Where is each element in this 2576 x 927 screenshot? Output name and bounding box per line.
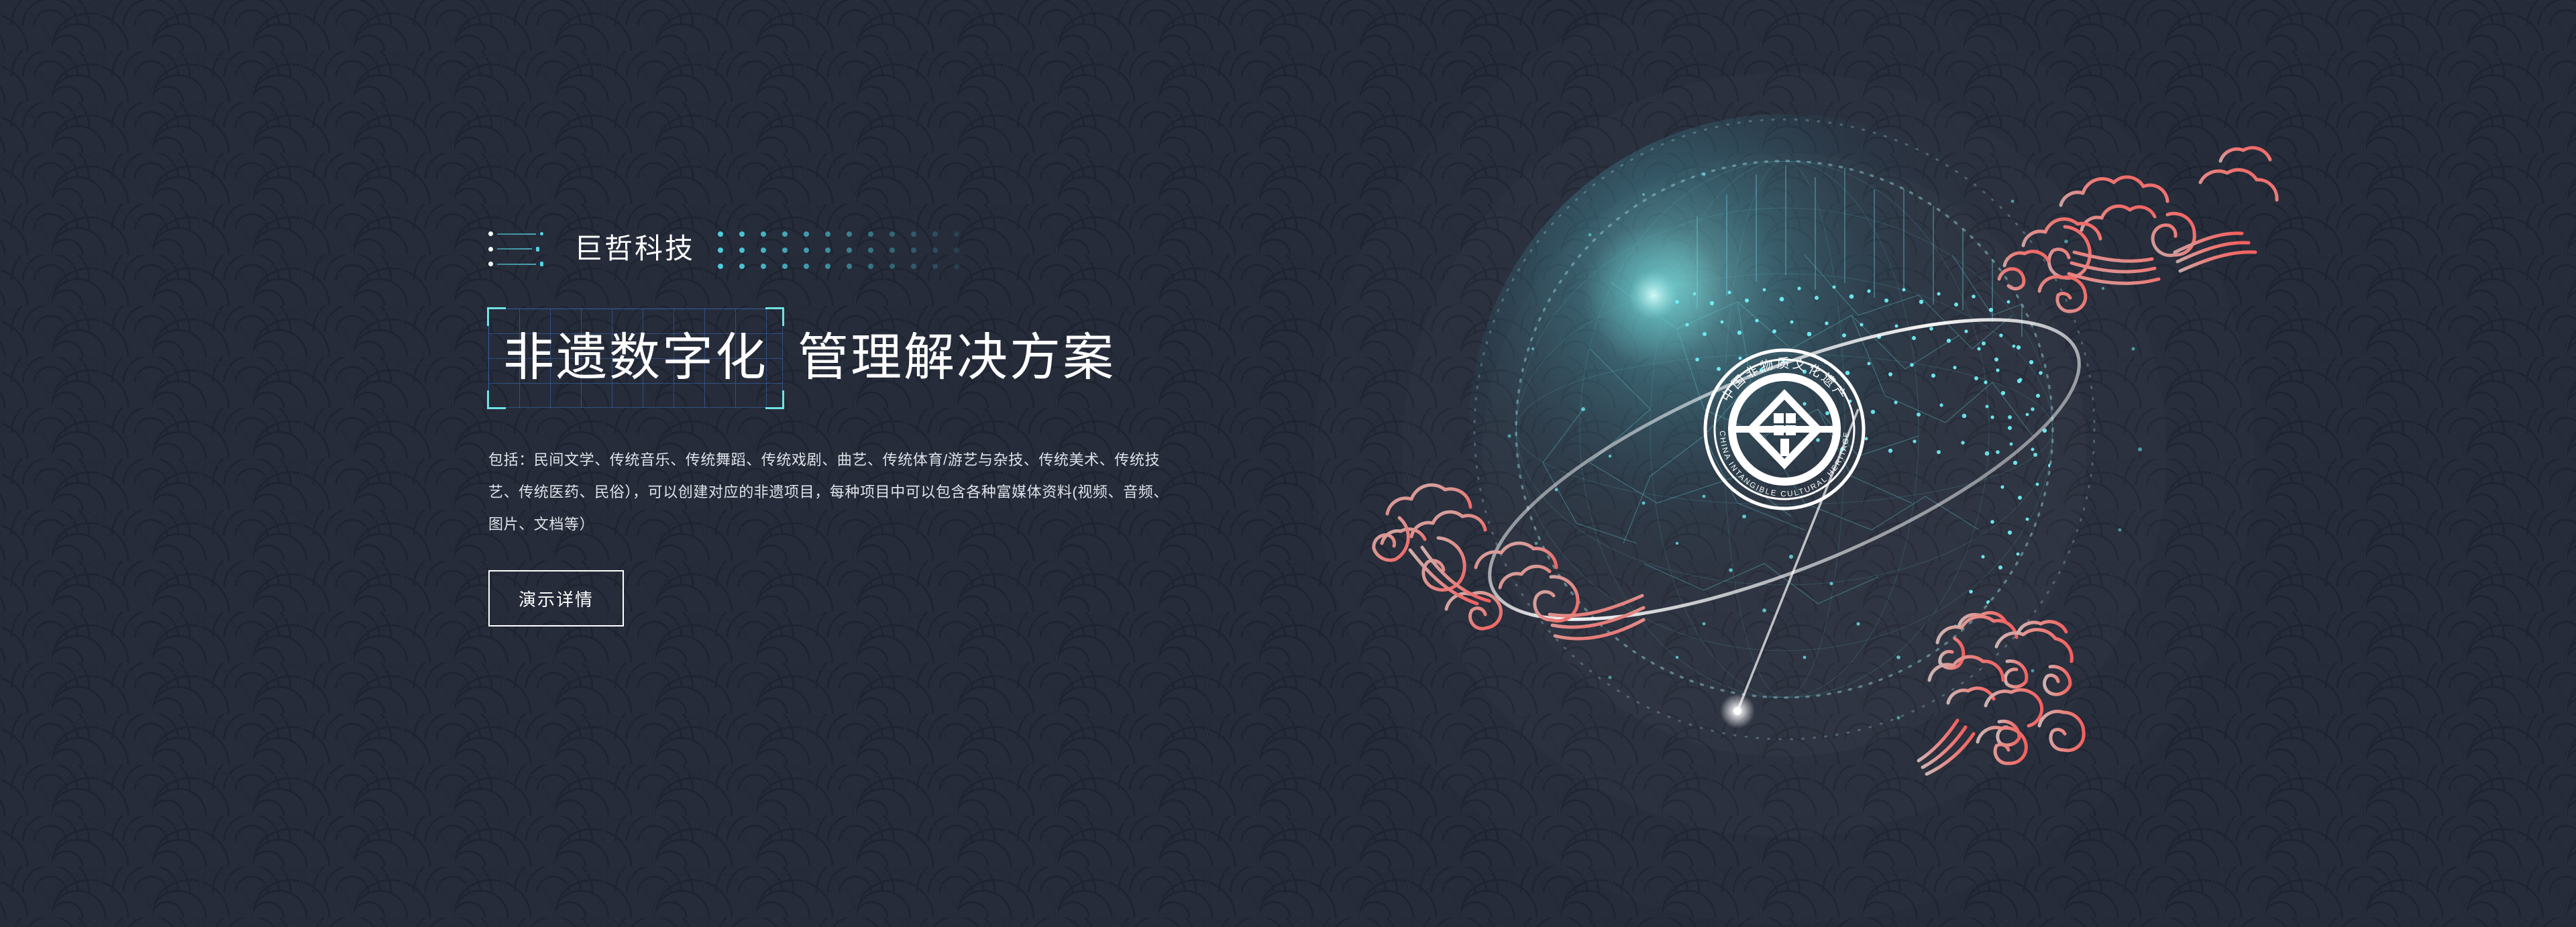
hero-description: 包括：民间文学、传统音乐、传统舞蹈、传统戏剧、曲艺、传统体育/游艺与杂技、传统美… bbox=[488, 444, 1176, 541]
hero-content: 巨哲科技 bbox=[488, 228, 1240, 626]
demo-details-button[interactable]: 演示详情 bbox=[488, 570, 624, 626]
page-title: 非遗数字化 管理解决方案 bbox=[488, 309, 1240, 408]
corner-mark-bottom-right bbox=[765, 390, 784, 409]
corner-mark-top-left bbox=[487, 307, 506, 326]
seigaiha-background-pattern bbox=[0, 0, 2576, 927]
brand-row: 巨哲科技 bbox=[488, 228, 1240, 270]
headline-highlight-text: 非遗数字化 bbox=[503, 333, 768, 384]
hero-banner: 中国非物质文化遗产 CHINA INTANGIBLE CULTURAL HERI… bbox=[0, 0, 2576, 927]
brand-name: 巨哲科技 bbox=[574, 235, 695, 263]
three-line-dash-icon bbox=[488, 231, 554, 266]
corner-mark-bottom-left bbox=[487, 390, 506, 409]
headline-boxed-highlight: 非遗数字化 bbox=[488, 309, 783, 408]
digital-globe-graphic: 中国非物质文化遗产 CHINA INTANGIBLE CULTURAL HERI… bbox=[1389, 34, 2180, 825]
corner-mark-top-right bbox=[765, 307, 784, 326]
headline-rest-text: 管理解决方案 bbox=[798, 333, 1116, 384]
china-intangible-cultural-heritage-emblem: 中国非物质文化遗产 CHINA INTANGIBLE CULTURAL HERI… bbox=[1705, 350, 1864, 508]
dot-grid-icon bbox=[718, 229, 959, 269]
